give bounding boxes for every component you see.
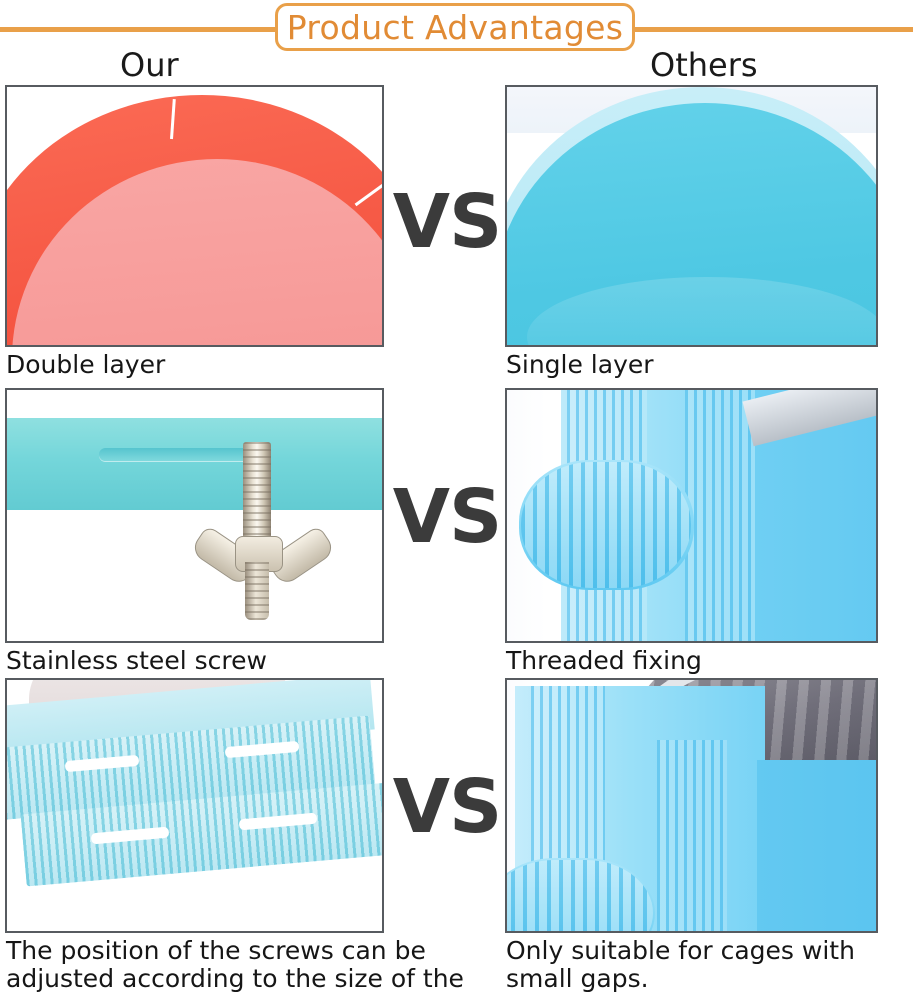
plastic-ribs-shape xyxy=(657,740,727,933)
our-image-frame-row2 xyxy=(5,388,384,643)
our-caption-row3: The position of the screws can be adjust… xyxy=(6,937,476,996)
others-caption-row3: Only suitable for cages with small gaps. xyxy=(506,937,906,993)
our-caption-row2: Stainless steel screw xyxy=(6,647,476,675)
adjustable-ribbed-brackets-photo xyxy=(7,680,382,931)
stainless-steel-wing-screw-photo xyxy=(7,390,382,641)
fixed-bracket-small-gap-photo xyxy=(507,680,876,931)
comparison-row-1: VS Double layer Single layer xyxy=(0,85,913,380)
threaded-plug-ribs-shape xyxy=(521,462,691,588)
our-image-frame-row1 xyxy=(5,85,384,347)
vs-separator-row1: VS xyxy=(392,185,502,259)
header-rule-right xyxy=(630,27,913,32)
vs-separator-row2: VS xyxy=(392,480,502,554)
header-rule-left xyxy=(0,27,290,32)
others-image-frame-row2 xyxy=(505,388,878,643)
single-layer-blue-bowl-photo xyxy=(507,87,876,345)
our-image-frame-row3 xyxy=(5,678,384,933)
others-caption-row2: Threaded fixing xyxy=(506,647,906,675)
double-layer-pink-bowl-photo xyxy=(7,87,382,345)
screw-tip-shape xyxy=(245,562,269,620)
column-heading-others: Others xyxy=(650,48,758,82)
bracket-slot-shape xyxy=(99,448,264,461)
plastic-bracket-side-shape xyxy=(757,760,878,933)
plastic-ribs-shape xyxy=(685,388,755,643)
title-badge: Product Advantages xyxy=(275,3,635,51)
page-title: Product Advantages xyxy=(287,11,623,44)
comparison-row-3: VS The position of the screws can be adj… xyxy=(0,678,913,996)
others-image-frame-row3 xyxy=(505,678,878,933)
comparison-row-2: VS Stainless steel screw Threaded fixing xyxy=(0,388,913,683)
others-caption-row1: Single layer xyxy=(506,351,906,379)
product-advantages-infographic: Product Advantages Our Others VS Double … xyxy=(0,0,913,996)
plastic-threaded-fixing-photo xyxy=(507,390,876,641)
our-caption-row1: Double layer xyxy=(6,351,476,379)
column-heading-our: Our xyxy=(120,48,179,82)
others-image-frame-row1 xyxy=(505,85,878,347)
vs-separator-row3: VS xyxy=(392,770,502,844)
teal-bracket-bar-shape xyxy=(5,418,384,510)
